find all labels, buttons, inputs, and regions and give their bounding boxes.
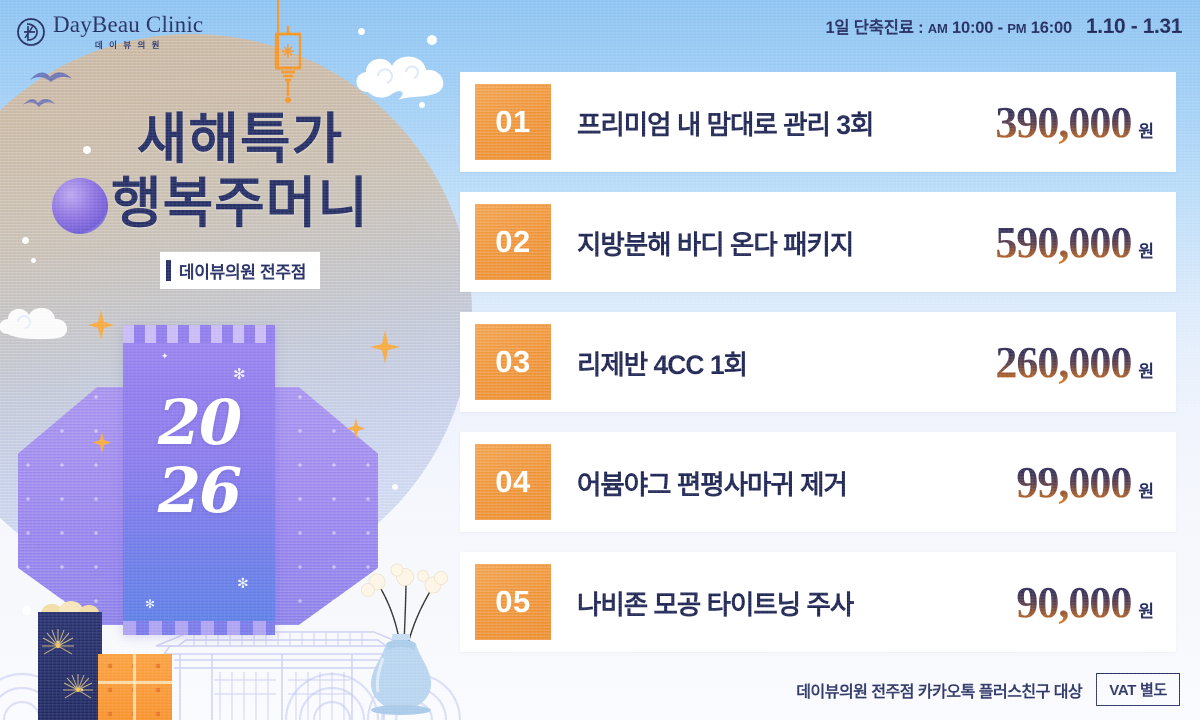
sparkle-icon [347,418,365,439]
price-amount: 260,000 [995,337,1131,388]
currency-unit: 원 [1138,117,1154,142]
price-group: 99,000 원 [1016,457,1154,508]
gift-ribbon-vertical [133,654,136,720]
promotion-date-range: 1.10 - 1.31 [1086,15,1182,39]
hero-title-line-1: 새해특가 [60,108,420,172]
store-branch-badge: 데이뷰의원 전주점 [160,252,320,289]
table-row[interactable]: 02 지방분해 바디 온다 패키지 590,000 원 [460,192,1176,292]
hours-pm-label: PM [1007,21,1026,36]
sparkle-icon [88,310,114,340]
price-amount: 99,000 [1016,457,1131,508]
table-row[interactable]: 01 프리미엄 내 맘대로 관리 3회 390,000 원 [460,72,1176,172]
pouch-year-bottom: 26 [123,461,275,522]
dot-decoration [22,606,31,615]
currency-unit: 원 [1138,237,1154,262]
bird-icon [28,68,74,90]
treatment-name: 어븀야그 편평사마귀 제거 [551,463,1016,502]
currency-unit: 원 [1138,357,1154,382]
brand-logo[interactable]: DayBeau Clinic 데 이 뷰 의 원 [16,12,203,51]
header-info: 1일 단축진료 : AM 10:00 - PM 16:00 1.10 - 1.3… [825,14,1182,39]
hero-title-line-2: 행복주머니 [60,172,420,236]
dot-decoration [358,28,365,35]
treatment-name: 지방분해 바디 온다 패키지 [551,223,995,262]
row-number-badge: 03 [475,324,551,400]
pouch-year-top: 20 [123,393,275,454]
price-amount: 590,000 [995,217,1131,268]
currency-unit: 원 [1138,597,1154,622]
dot-decoration [31,258,36,263]
gift-box-navy [38,612,102,720]
hours-label: 1일 단축진료 : [825,19,923,37]
table-row[interactable]: 04 어븀야그 편평사마귀 제거 99,000 원 [460,432,1176,532]
vat-badge: VAT 별도 [1096,673,1180,706]
badge-accent-bar [166,260,171,281]
dot-decoration [392,484,398,490]
table-row[interactable]: 03 리제반 4CC 1회 260,000 원 [460,312,1176,412]
price-amount: 390,000 [995,97,1131,148]
hero-title-block: 새해특가 행복주머니 데이뷰의원 전주점 [60,108,420,289]
promotion-banner: 20 26 ✻ ✦ ✻ ✻ [0,0,1200,720]
hours-am-label: AM [928,21,948,36]
daybeau-circle-mark-icon [16,17,46,47]
cloud-icon [0,300,74,346]
row-number-badge: 04 [475,444,551,520]
price-group: 390,000 원 [995,97,1154,148]
footer-note: 데이뷰의원 전주점 카카오톡 플러스친구 대상 [796,678,1082,702]
cloud-icon [348,48,456,108]
dot-decoration [427,35,437,45]
price-amount: 90,000 [1016,577,1131,628]
vase-with-blossoms-illustration [348,558,458,720]
footer-note-group: 데이뷰의원 전주점 카카오톡 플러스친구 대상 VAT 별도 [796,673,1180,706]
treatment-name: 리제반 4CC 1회 [551,343,995,382]
treatment-name: 나비존 모공 타이트닝 주사 [551,583,1016,622]
row-number-badge: 01 [475,84,551,160]
price-group: 260,000 원 [995,337,1154,388]
row-number-badge: 02 [475,204,551,280]
currency-unit: 원 [1138,477,1154,502]
store-branch-label: 데이뷰의원 전주점 [179,258,306,283]
brand-name: DayBeau Clinic [53,12,203,38]
hours-dash: - [998,19,1003,37]
bird-icon [22,95,56,112]
hours-open-time: 10:00 [952,19,993,37]
treatment-name: 프리미엄 내 맘대로 관리 3회 [551,103,995,142]
sparkle-icon [370,330,400,364]
row-number-badge: 05 [475,564,551,640]
price-group: 90,000 원 [1016,577,1154,628]
sparkle-icon [93,432,111,453]
lucky-pouch-illustration: 20 26 ✻ ✦ ✻ ✻ [18,325,378,635]
brand-name-kr: 데 이 뷰 의 원 [95,39,162,51]
gift-ribbon-horizontal [98,681,172,684]
clinic-hours: 1일 단축진료 : AM 10:00 - PM 16:00 [825,14,1072,38]
price-group: 590,000 원 [995,217,1154,268]
table-row[interactable]: 05 나비존 모공 타이트닝 주사 90,000 원 [460,552,1176,652]
promotion-price-list: 01 프리미엄 내 맘대로 관리 3회 390,000 원 02 지방분해 바디… [460,72,1176,652]
dot-decoration [22,237,29,244]
hours-close-time: 16:00 [1031,19,1072,37]
